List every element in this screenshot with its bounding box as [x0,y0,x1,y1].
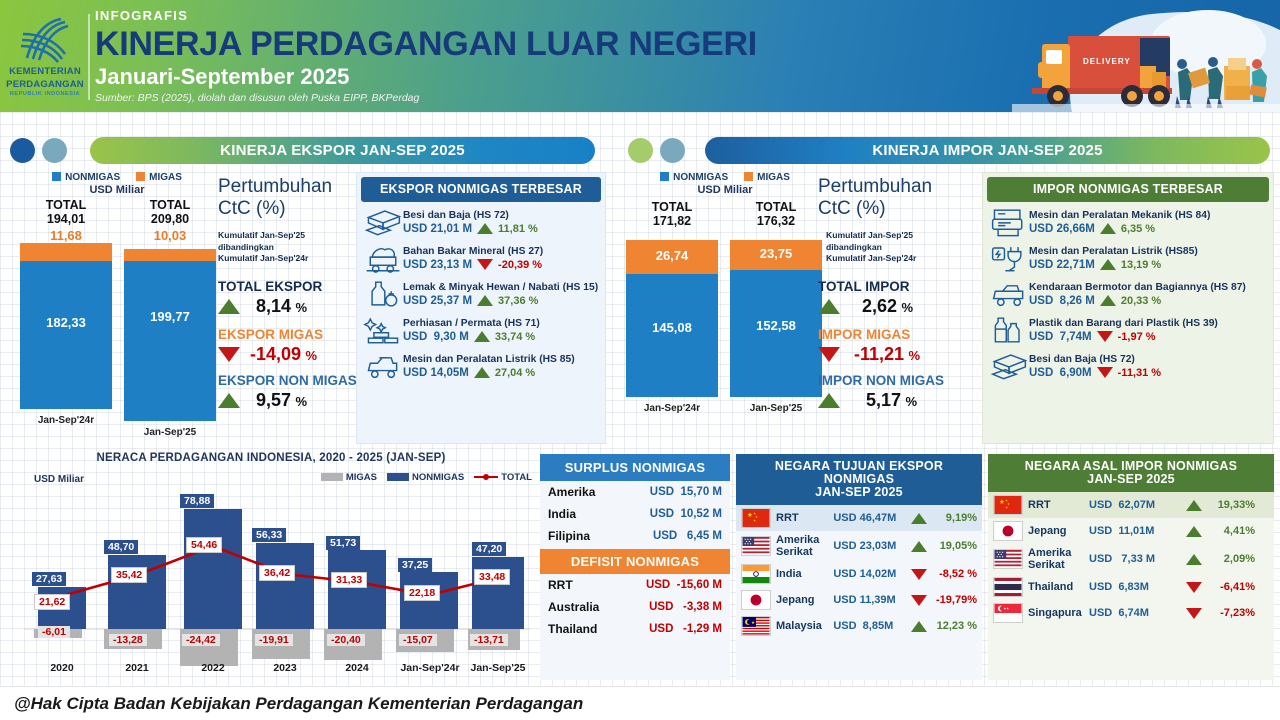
logo-text-line2: PERDAGANGAN [6,80,84,90]
triangle-up-icon [218,393,240,408]
export-growth-title: PertumbuhanCtC (%) [218,176,358,220]
export-growth-block: PertumbuhanCtC (%) Kumulatif Jan-Sep'25 … [218,176,358,411]
dot-teal [660,138,685,163]
triangle-down-icon [911,595,927,606]
import-xlabel-2024: Jan-Sep'24r [626,403,718,414]
import-growth-note: Kumulatif Jan-Sep'25 dibandingkan Kumula… [818,230,978,265]
nonmigas-label: 56,33 [252,528,286,542]
export-top-commodities-panel: EKSPOR NONMIGAS TERBESAR Besi dan Baja (… [356,172,606,444]
import-chart-unit: USD Miliar [620,184,830,196]
country-row[interactable]: ★ Malaysia USD 8,85M 12,23 % [736,613,982,639]
country-row[interactable]: ★★★★ RRT USD 46,47M 9,19% [736,505,982,531]
export-migas-bar-2024 [20,243,112,261]
triangle-down-icon [818,347,840,362]
import-bar-chart: NONMIGAS MIGAS USD Miliar TOTAL171,82 26… [620,170,830,440]
country-row[interactable]: ★★★★ RRT USD 62,07M 19,33% [988,492,1274,518]
import-growth-title: PertumbuhanCtC (%) [818,176,978,220]
triangle-down-icon [1186,582,1202,593]
commodity-row[interactable]: Kendaraan Bermotor dan Bagiannya (HS 87)… [983,276,1273,312]
commodity-row[interactable]: Lemak & Minyak Hewan / Nabati (HS 15) US… [357,276,605,312]
triangle-up-icon [1186,554,1202,565]
flag-japan [993,521,1023,541]
migas-label: -24,42 [182,634,220,646]
migas-label: -13,28 [109,634,147,646]
country-row[interactable]: Amerika Serikat USD 23,03M 19,05% [736,531,982,561]
export-total-label-2025: TOTAL209,80 [124,198,216,226]
svg-text:★: ★ [753,519,756,523]
export-nonmigas-bar-2025: 199,77 [124,261,216,421]
triangle-up-icon [1100,223,1116,234]
export-bar-chart: NONMIGAS MIGAS USD Miliar TOTAL194,01 11… [12,170,222,440]
country-row[interactable]: Jepang USD 11,01M 4,41% [988,518,1274,544]
triangle-up-icon [911,513,927,524]
import-nonmigas-bar-2024: 145,08 [626,274,718,397]
total-label: 33,48 [474,569,510,585]
deficit-header: DEFISIT NONMIGAS [540,549,730,574]
trade-balance-title: NERACA PERDAGANGAN INDONESIA, 2020 - 202… [6,452,536,464]
total-label: 31,33 [331,572,367,588]
export-growth-note: Kumulatif Jan-Sep'25 dibandingkan Kumula… [218,230,358,265]
jewelry-icon [363,313,403,347]
source-note: Sumber: BPS (2025), diolah dan disusun o… [95,92,757,104]
flag-singapore: ★★ [993,603,1023,623]
x-axis-label: Jan-Sep'25 [466,662,530,674]
dot-green [628,138,653,163]
triangle-down-icon [1097,331,1113,342]
triangle-up-icon [818,393,840,408]
logo-text-line3: REPUBLIK INDONESIA [6,91,84,97]
nonmigas-label: 37,25 [398,558,432,572]
dot-blue [10,138,35,163]
trade-balance-chart: NERACA PERDAGANGAN INDONESIA, 2020 - 202… [6,452,536,688]
copyright-text: @Hak Cipta Badan Kebijakan Perdagangan K… [14,694,583,714]
nonmigas-label: 27,63 [32,572,66,586]
triangle-up-icon [1100,295,1116,306]
svg-text:★: ★ [1005,506,1008,510]
import-origin-panel: NEGARA ASAL IMPOR NONMIGASJAN-SEP 2025 ★… [988,454,1274,680]
x-axis-label: 2022 [184,662,242,674]
total-label: 21,62 [34,594,70,610]
import-nonmigas-bar-2025: 152,58 [730,270,822,397]
export-banner-dots [10,138,67,163]
triangle-up-icon [1186,526,1202,537]
migas-label: -13,71 [470,634,508,646]
x-axis-label: Jan-Sep'24r [394,662,466,674]
electric-machine-icon [363,349,403,383]
x-axis-label: 2020 [38,662,86,674]
total-label: 36,42 [259,565,295,581]
delivery-illustration: DELIVERY [1012,0,1280,112]
svg-text:★★: ★★ [1004,606,1010,610]
import-xlabel-2025: Jan-Sep'25 [730,403,822,414]
header-divider [88,14,90,100]
flag-china: ★★★★ [993,495,1023,515]
deficit-row[interactable]: Australia USD -3,38 M [540,596,730,618]
nonmigas-label: 48,70 [104,540,138,554]
triangle-down-icon [477,259,493,270]
commodity-row[interactable]: Plastik dan Barang dari Plastik (HS 39) … [983,312,1273,348]
export-chart-unit: USD Miliar [12,184,222,196]
commodity-row[interactable]: Mesin dan Peralatan Listrik (HS 85) USD … [357,348,605,384]
printer-machine-icon [989,205,1029,239]
triangle-up-icon [1186,500,1202,511]
import-commodities-header: IMPOR NONMIGAS TERBESAR [987,177,1269,202]
copyright-footer: @Hak Cipta Badan Kebijakan Perdagangan K… [0,686,1280,720]
dot-teal [42,138,67,163]
logo-text-line1: KEMENTERIAN [6,67,84,77]
total-label: 22,18 [404,585,440,601]
import-total-label-2024: TOTAL171,82 [626,200,718,228]
export-growth-item-total: TOTAL EKSPOR 8,14 % [218,279,358,317]
triangle-down-icon [911,569,927,580]
svg-text:★: ★ [999,499,1005,506]
triangle-down-icon [1097,367,1113,378]
total-label: 35,42 [111,567,147,583]
country-row[interactable]: ★★ Singapura USD 6,74M -7,23% [988,600,1274,626]
country-row[interactable]: Thailand USD 6,83M -6,41% [988,574,1274,600]
surplus-row[interactable]: Amerika USD 15,70 M [540,481,730,503]
migas-label: -19,91 [255,634,293,646]
import-migas-bar-2024: 26,74 [626,240,718,274]
import-chart-legend: NONMIGAS MIGAS [620,172,830,183]
flag-india [741,564,771,584]
steel-icon [989,349,1029,383]
car-icon [989,277,1029,311]
triangle-up-icon [474,367,490,378]
triangle-down-icon [218,347,240,362]
commodity-row[interactable]: Bahan Bakar Mineral (HS 27) USD 23,13 M … [357,240,605,276]
export-section-banner: KINERJA EKSPOR JAN-SEP 2025 [90,137,595,164]
export-xlabel-2024: Jan-Sep'24r [20,415,112,426]
flag-china: ★★★★ [741,508,771,528]
export-nonmigas-bar-2024: 182,33 [20,261,112,409]
flag-usa [993,549,1023,569]
migas-label: -6,01 [38,626,70,638]
legend-migas: MIGAS [744,172,790,183]
triangle-up-icon [911,621,927,632]
total-label: 54,46 [186,537,222,553]
flag-malaysia: ★ [741,616,771,636]
deficit-row[interactable]: Thailand USD -1,29 M [540,618,730,640]
migas-label: -20,40 [327,634,365,646]
x-axis-label: 2021 [108,662,166,674]
triangle-up-icon [218,299,240,314]
oil-bottle-icon [363,277,403,311]
nonmigas-label: 78,88 [180,494,214,508]
plastic-bottle-icon [989,313,1029,347]
triangle-up-icon [477,223,493,234]
country-row[interactable]: India USD 14,02M -8,52 % [736,561,982,587]
export-growth-item-migas: EKSPOR MIGAS -14,09 % [218,327,358,365]
export-growth-item-nonmigas: EKSPOR NON MIGAS 9,57 % [218,373,358,411]
flag-thailand [993,577,1023,597]
nonmigas-label: 47,20 [472,542,506,556]
surplus-header: SURPLUS NONMIGAS [540,454,730,481]
svg-text:DELIVERY: DELIVERY [1083,57,1131,66]
import-growth-item-total: TOTAL IMPOR 2,62 % [818,279,978,317]
triangle-up-icon [911,541,927,552]
export-total-label-2024: TOTAL194,01 [20,198,112,226]
import-top-commodities-panel: IMPOR NONMIGAS TERBESAR Mesin dan Perala… [982,172,1274,444]
surplus-row[interactable]: India USD 10,52 M [540,503,730,525]
export-chart-legend: NONMIGAS MIGAS [12,172,222,183]
import-growth-block: PertumbuhanCtC (%) Kumulatif Jan-Sep'25 … [818,176,978,411]
page-subtitle: Januari-September 2025 [95,64,757,90]
commodity-row[interactable]: Perhiasan / Permata (HS 71) USD 9,30 M 3… [357,312,605,348]
triangle-up-icon [474,331,490,342]
nonmigas-label: 51,73 [326,536,360,550]
migas-label: -15,07 [399,634,437,646]
import-total-label-2025: TOTAL176,32 [730,200,822,228]
export-xlabel-2025: Jan-Sep'25 [124,427,216,438]
surplus-deficit-panel: SURPLUS NONMIGAS Amerika USD 15,70 M Ind… [540,454,730,680]
export-destination-header: NEGARA TUJUAN EKSPOR NONMIGASJAN-SEP 202… [736,454,982,505]
flag-usa [741,536,771,556]
coal-cart-icon [363,241,403,275]
triangle-up-icon [818,299,840,314]
import-growth-item-migas: IMPOR MIGAS -11,21 % [818,327,978,365]
triangle-up-icon [477,295,493,306]
country-row[interactable]: Jepang USD 11,39M -19,79% [736,587,982,613]
legend-nonmigas: NONMIGAS [660,172,728,183]
import-origin-header: NEGARA ASAL IMPOR NONMIGASJAN-SEP 2025 [988,454,1274,492]
ministry-logo: KEMENTERIAN PERDAGANGAN REPUBLIK INDONES… [6,14,84,102]
x-axis-label: 2024 [328,662,386,674]
export-migas-value-2025: 10,03 [124,228,216,243]
x-axis-label: 2023 [256,662,314,674]
legend-nonmigas: NONMIGAS [52,172,120,183]
flag-japan [741,590,771,610]
triangle-down-icon [1186,608,1202,619]
legend-migas: MIGAS [136,172,182,183]
page-title: KINERJA PERDAGANGAN LUAR NEGERI [95,24,757,64]
import-migas-bar-2025: 23,75 [730,240,822,270]
plug-icon [989,241,1029,275]
export-migas-bar-2025 [124,249,216,261]
triangle-up-icon [1100,259,1116,270]
commodity-row[interactable]: Besi dan Baja (HS 72) USD 21,01 M 11,81 … [357,204,605,240]
header-kicker: INFOGRAFIS [95,8,757,23]
export-commodities-header: EKSPOR NONMIGAS TERBESAR [361,177,601,202]
commodity-row[interactable]: Mesin dan Peralatan Listrik (HS85) USD 2… [983,240,1273,276]
deficit-row[interactable]: RRT USD -15,60 M [540,574,730,596]
export-migas-value-2024: 11,68 [20,228,112,243]
import-banner-dots [628,138,685,163]
page-header: KEMENTERIAN PERDAGANGAN REPUBLIK INDONES… [0,0,1280,112]
surplus-row[interactable]: Filipina USD 6,45 M [540,525,730,547]
country-row[interactable]: Amerika Serikat USD 7,33 M 2,09% [988,544,1274,574]
steel-icon [363,205,403,239]
commodity-row[interactable]: Mesin dan Peralatan Mekanik (HS 84) USD … [983,204,1273,240]
commodity-row[interactable]: Besi dan Baja (HS 72) USD 6,90M -11,31 % [983,348,1273,384]
import-section-banner: KINERJA IMPOR JAN-SEP 2025 [705,137,1270,164]
svg-text:★: ★ [747,512,753,519]
ministry-emblem-icon [15,14,75,64]
import-growth-item-nonmigas: IMPOR NON MIGAS 5,17 % [818,373,978,411]
export-destination-panel: NEGARA TUJUAN EKSPOR NONMIGASJAN-SEP 202… [736,454,982,680]
